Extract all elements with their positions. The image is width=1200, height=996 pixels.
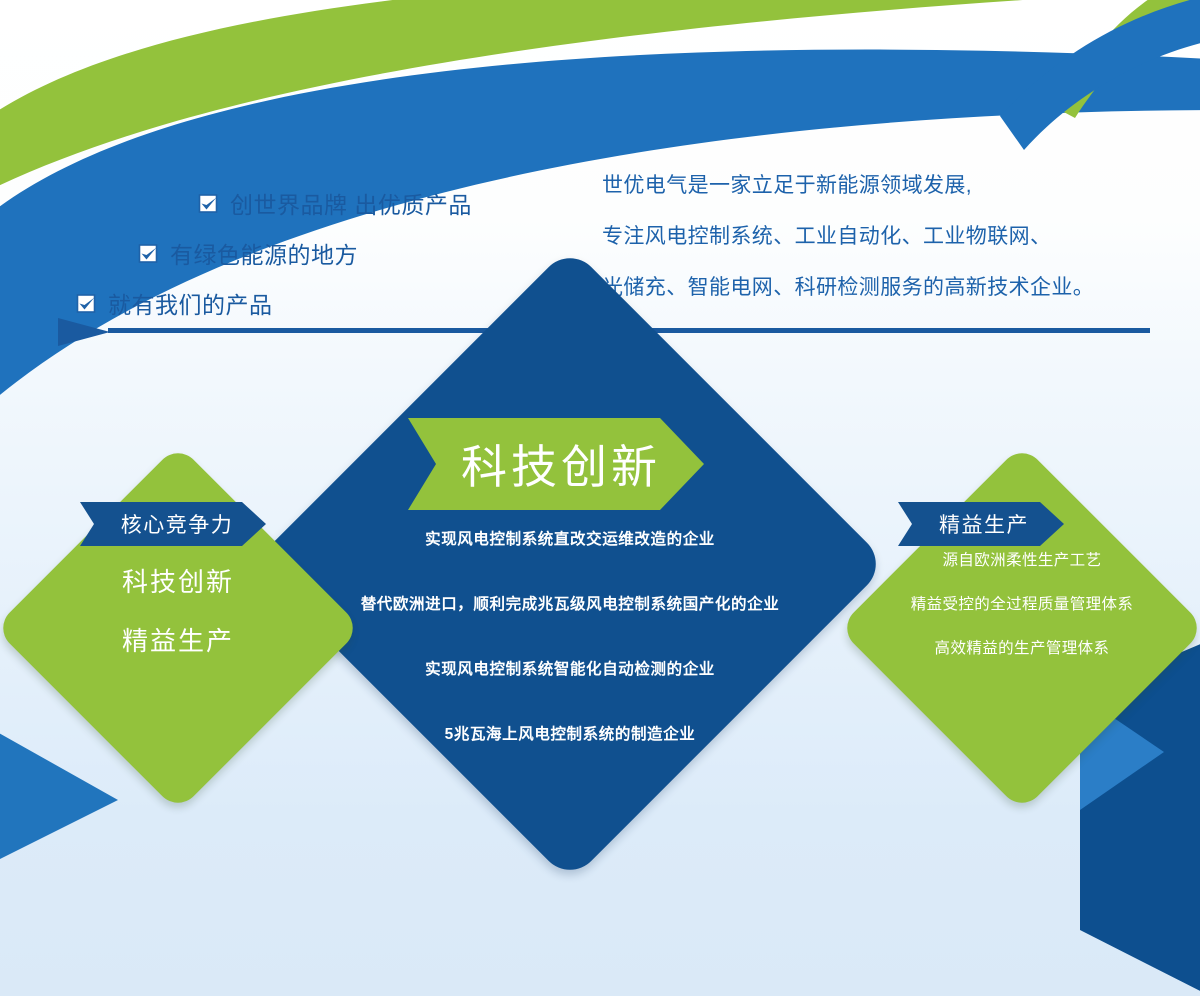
bullet-item: 创世界品牌 出优质产品 xyxy=(70,186,540,220)
bullet-label: 就有我们的产品 xyxy=(108,286,273,320)
checkbox-checked-icon xyxy=(76,291,100,315)
left-line: 科技创新 xyxy=(48,562,308,599)
left-diamond-text: 科技创新 精益生产 xyxy=(48,562,308,658)
intro-line: 专注风电控制系统、工业自动化、工业物联网、 xyxy=(602,211,1182,262)
intro-line: 光储充、智能电网、科研检测服务的高新技术企业。 xyxy=(602,262,1182,313)
center-line: 替代欧洲进口，顺利完成兆瓦级风电控制系统国产化的企业 xyxy=(285,592,855,614)
right-banner-label: 精益生产 xyxy=(933,509,1029,539)
bullet-list: 创世界品牌 出优质产品 有绿色能源的地方 就有我们的产品 xyxy=(70,186,540,336)
right-diamond-text: 源自欧洲柔性生产工艺 精益受控的全过程质量管理体系 高效精益的生产管理体系 xyxy=(872,548,1172,658)
center-banner: 科技创新 xyxy=(408,418,704,510)
intro-line: 世优电气是一家立足于新能源领域发展, xyxy=(602,160,1182,211)
center-line: 5兆瓦海上风电控制系统的制造企业 xyxy=(345,722,795,744)
left-line: 精益生产 xyxy=(48,621,308,658)
right-line: 源自欧洲柔性生产工艺 xyxy=(872,548,1172,570)
bullet-label: 创世界品牌 出优质产品 xyxy=(230,186,472,220)
left-banner-label: 核心竞争力 xyxy=(113,509,234,539)
checkbox-checked-icon xyxy=(198,191,222,215)
company-intro-paragraph: 世优电气是一家立足于新能源领域发展, 专注风电控制系统、工业自动化、工业物联网、… xyxy=(602,160,1182,313)
center-line: 实现风电控制系统智能化自动检测的企业 xyxy=(345,657,795,679)
center-banner-label: 科技创新 xyxy=(451,431,661,497)
bullet-label: 有绿色能源的地方 xyxy=(170,236,358,270)
right-banner: 精益生产 xyxy=(898,502,1064,546)
bullet-item: 有绿色能源的地方 xyxy=(70,236,540,270)
center-line: 实现风电控制系统直改交运维改造的企业 xyxy=(345,527,795,549)
right-line: 高效精益的生产管理体系 xyxy=(872,636,1172,658)
checkbox-checked-icon xyxy=(138,241,162,265)
right-line: 精益受控的全过程质量管理体系 xyxy=(872,592,1172,614)
infographic-canvas: 创世界品牌 出优质产品 有绿色能源的地方 就有我们的产品 世优电气是一家立足于新… xyxy=(0,0,1200,996)
bullet-item: 就有我们的产品 xyxy=(70,286,540,320)
left-banner: 核心竞争力 xyxy=(80,502,266,546)
center-diamond-text: 实现风电控制系统直改交运维改造的企业 替代欧洲进口，顺利完成兆瓦级风电控制系统国… xyxy=(345,527,795,744)
